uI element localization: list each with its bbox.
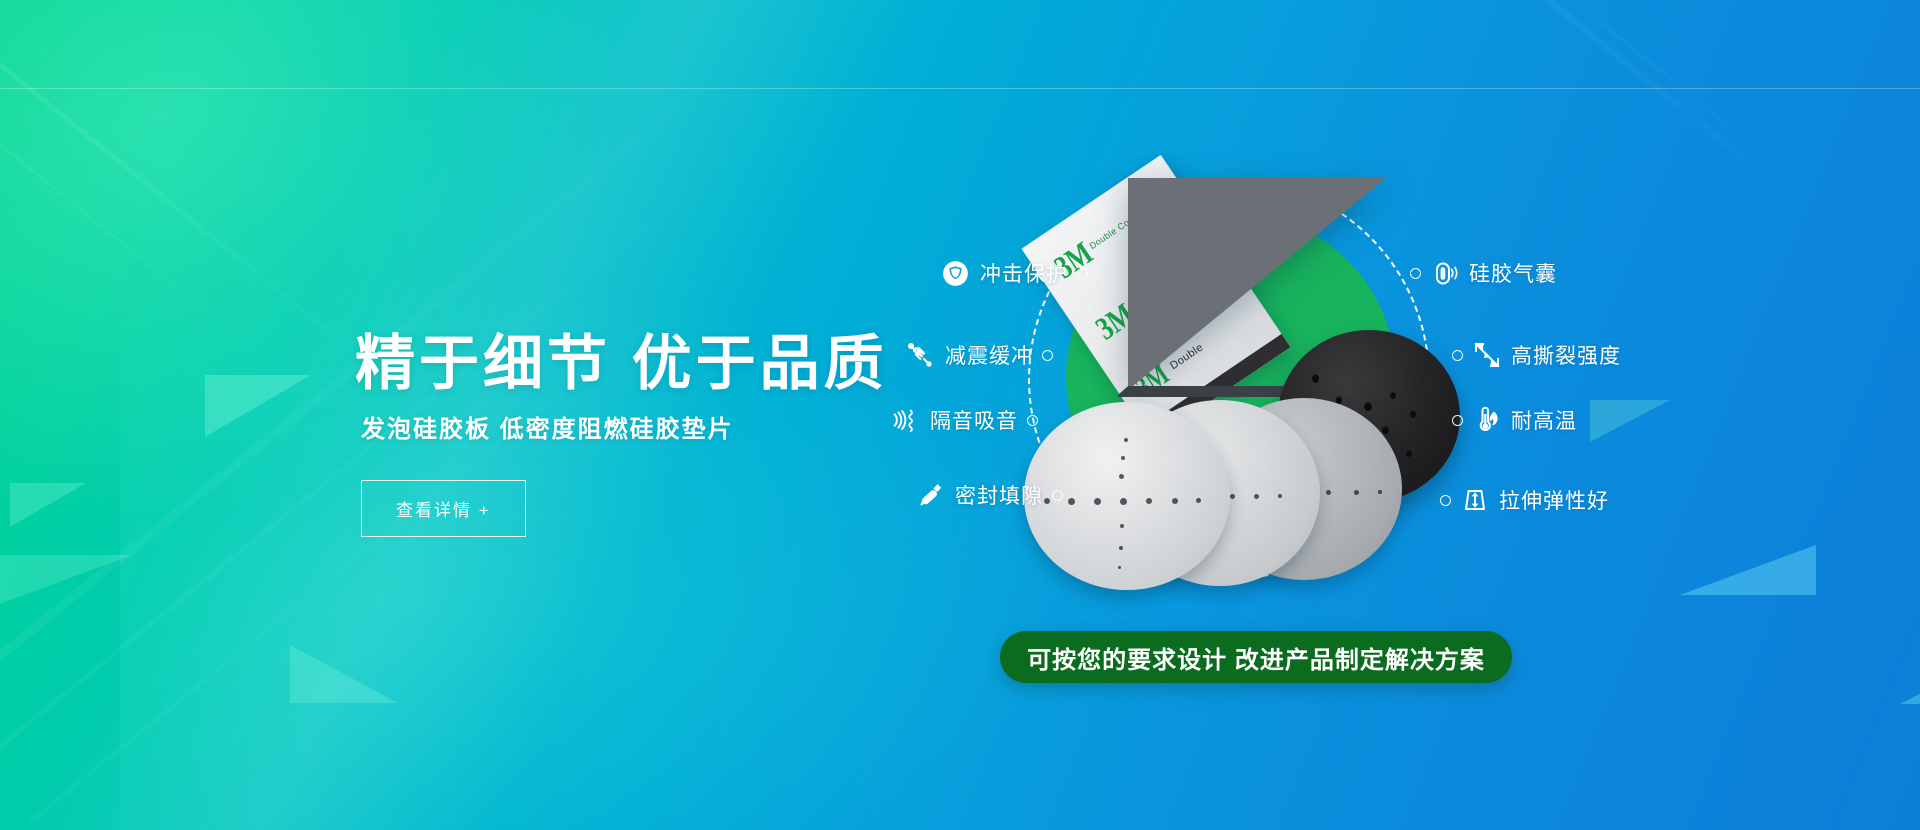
view-details-button[interactable]: 查看详情 +: [361, 480, 526, 537]
feature-heat-resistance[interactable]: 耐高温: [1452, 405, 1577, 435]
solution-pill-label: 可按您的要求设计 改进产品制定解决方案: [1027, 640, 1485, 675]
feature-tensile-elasticity[interactable]: 拉伸弹性好: [1440, 485, 1609, 515]
sound-wave-icon: [890, 405, 920, 435]
feature-label: 硅胶气囊: [1469, 258, 1557, 288]
bullet-ring: [1452, 415, 1463, 426]
stretch-arrow-icon: [1460, 485, 1490, 515]
bullet-ring: [1027, 415, 1038, 426]
feature-label: 隔音吸音: [930, 405, 1018, 435]
bullet-ring: [1052, 490, 1063, 501]
feature-impact-protection[interactable]: 冲击保护: [940, 258, 1088, 288]
feature-silicone-airbag[interactable]: 硅胶气囊: [1410, 258, 1557, 288]
triangle-2: [10, 483, 86, 527]
bullet-ring: [1452, 350, 1463, 361]
triangle-7: [1590, 400, 1670, 442]
streak-7: [1599, 20, 1796, 180]
feature-sound-insulation[interactable]: 隔音吸音: [890, 405, 1038, 435]
triangle-5: [1680, 545, 1816, 595]
disc-hole: [1390, 392, 1396, 399]
solution-pill-banner[interactable]: 可按您的要求设计 改进产品制定解决方案: [1000, 631, 1512, 683]
product-illustration: 3M Double Coated Tape 3M Adhesives & Tap…: [1010, 150, 1530, 620]
streak-1: [0, 31, 366, 362]
bullet-ring: [1077, 268, 1088, 279]
disc-hole: [1382, 426, 1389, 434]
triangle-3: [0, 555, 132, 615]
feature-label: 拉伸弹性好: [1499, 485, 1609, 515]
streak-6: [1538, 0, 1799, 204]
bullet-ring: [1440, 495, 1451, 506]
triangle-6: [1900, 670, 1920, 704]
airbag-icon: [1430, 258, 1460, 288]
hero-banner: 精于细节 优于品质 发泡硅胶板 低密度阻燃硅胶垫片 查看详情 + 3M Doub…: [0, 0, 1920, 830]
shock-absorber-icon: [905, 340, 935, 370]
triangle-1: [205, 375, 311, 437]
shield-icon: [940, 258, 970, 288]
streak-2: [0, 78, 255, 351]
feature-high-tear-strength[interactable]: 高撕裂强度: [1452, 340, 1621, 370]
tear-arrows-icon: [1472, 340, 1502, 370]
thermometer-flame-icon: [1472, 405, 1502, 435]
horizontal-hairline: [0, 88, 1920, 89]
feature-label: 高撕裂强度: [1511, 340, 1621, 370]
disc-hole: [1410, 410, 1416, 418]
sealant-pen-icon: [915, 480, 945, 510]
feature-shock-absorption[interactable]: 减震缓冲: [905, 340, 1053, 370]
disc-hole: [1406, 450, 1412, 457]
feature-label: 密封填隙: [955, 480, 1043, 510]
bullet-ring: [1410, 268, 1421, 279]
disc-hole: [1364, 402, 1372, 411]
page-title: 精于细节 优于品质: [355, 330, 995, 397]
feature-label: 冲击保护: [980, 258, 1068, 288]
disc-hole: [1312, 374, 1319, 383]
feature-label: 减震缓冲: [945, 340, 1033, 370]
bullet-ring: [1042, 350, 1053, 361]
feature-sealing-gap-filling[interactable]: 密封填隙: [915, 480, 1063, 510]
triangle-4: [290, 645, 398, 703]
feature-label: 耐高温: [1511, 405, 1577, 435]
